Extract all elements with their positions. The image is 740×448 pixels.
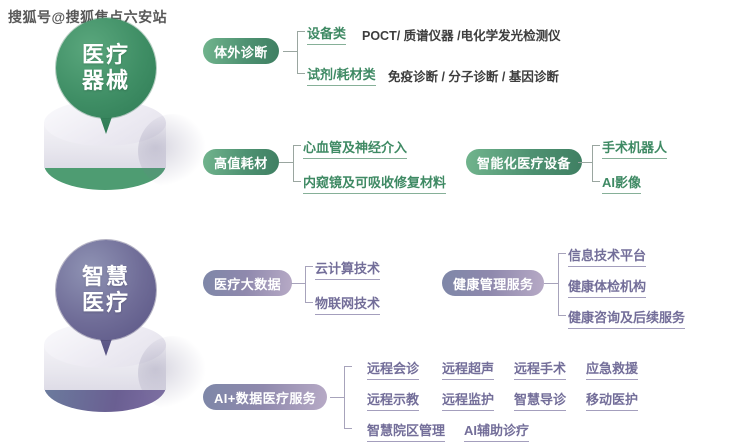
connector-branch xyxy=(297,31,305,32)
detail-ivd-reagent: 免疫诊断 / 分子诊断 / 基因诊断 xyxy=(388,66,559,85)
connector-vline xyxy=(344,366,345,428)
pill-health-management-service[interactable]: 健康管理服务 xyxy=(442,270,544,296)
leaf-smart-triage[interactable]: 智慧导诊 xyxy=(514,389,566,411)
pedestal-shadow xyxy=(138,336,208,410)
connector-vline xyxy=(592,145,593,181)
leaf-emergency-rescue[interactable]: 应急救援 xyxy=(586,358,638,380)
connector-branch xyxy=(305,302,313,303)
pedestal-shadow xyxy=(138,114,208,188)
pill-high-value-consumables[interactable]: 高值耗材 xyxy=(203,149,279,175)
node-label-smart-health: 智慧 医疗 xyxy=(56,240,156,340)
leaf-remote-teaching[interactable]: 远程示教 xyxy=(367,389,419,411)
pill-smart-medical-equipment[interactable]: 智能化医疗设备 xyxy=(466,149,582,175)
node-label-line1: 智慧 xyxy=(82,264,130,290)
connector-branch xyxy=(297,73,305,74)
connector-branch xyxy=(344,428,352,429)
connector-branch xyxy=(305,266,313,267)
connector-branch xyxy=(344,366,352,367)
leaf-cardio-neuro[interactable]: 心血管及神经介入 xyxy=(303,137,407,159)
detail-ivd-equipment: POCT/ 质谱仪器 /电化学发光检测仪 xyxy=(362,25,561,44)
connector-stub xyxy=(291,283,305,284)
leaf-it-platform[interactable]: 信息技术平台 xyxy=(568,245,646,267)
pill-ivd[interactable]: 体外诊断 xyxy=(203,38,279,64)
connector-branch xyxy=(592,181,600,182)
connector-stub xyxy=(279,162,293,163)
leaf-remote-monitoring[interactable]: 远程监护 xyxy=(442,389,494,411)
connector-branch xyxy=(293,181,301,182)
leaf-smart-campus-management[interactable]: 智慧院区管理 xyxy=(367,420,445,442)
connector-branch xyxy=(558,253,566,254)
node-label-line1: 医疗 xyxy=(82,42,130,68)
leaf-endoscope[interactable]: 内窥镜及可吸收修复材料 xyxy=(303,172,446,194)
node-label-line2: 器械 xyxy=(82,68,130,94)
connector-branch xyxy=(293,145,301,146)
leaf-remote-surgery[interactable]: 远程手术 xyxy=(514,358,566,380)
connector-vline xyxy=(558,253,559,315)
leaf-health-consulting[interactable]: 健康咨询及后续服务 xyxy=(568,307,685,329)
connector-stub xyxy=(283,51,297,52)
connector-stub xyxy=(330,397,344,398)
mindmap-canvas: 搜狐号@搜狐焦点六安站 医疗 器械 智慧 医疗 体外诊断 设备类 POCT/ 质… xyxy=(0,0,740,448)
connector-branch xyxy=(558,315,566,316)
pill-ai-data-medical-service[interactable]: AI+数据医疗服务 xyxy=(203,384,327,410)
connector-stub xyxy=(578,162,592,163)
node-medical-device: 医疗 器械 xyxy=(18,18,198,218)
leaf-ai-imaging[interactable]: AI影像 xyxy=(602,172,641,194)
node-smart-health: 智慧 医疗 xyxy=(18,240,198,440)
leaf-mobile-care[interactable]: 移动医护 xyxy=(586,389,638,411)
leaf-ivd-equipment[interactable]: 设备类 xyxy=(307,23,346,45)
leaf-ai-assisted-diagnosis[interactable]: AI辅助诊疗 xyxy=(464,420,529,442)
leaf-remote-consultation[interactable]: 远程会诊 xyxy=(367,358,419,380)
leaf-health-checkup[interactable]: 健康体检机构 xyxy=(568,276,646,298)
connector-vline xyxy=(293,145,294,181)
connector-stub xyxy=(544,283,558,284)
leaf-cloud-computing[interactable]: 云计算技术 xyxy=(315,258,380,280)
node-label-medical-device: 医疗 器械 xyxy=(56,18,156,118)
leaf-ivd-reagent[interactable]: 试剂/耗材类 xyxy=(307,64,376,86)
connector-vline xyxy=(305,266,306,302)
leaf-surgical-robot[interactable]: 手术机器人 xyxy=(602,137,667,159)
node-label-line2: 医疗 xyxy=(82,290,130,316)
connector-branch xyxy=(592,145,600,146)
leaf-iot[interactable]: 物联网技术 xyxy=(315,293,380,315)
connector-vline xyxy=(297,31,298,73)
leaf-remote-ultrasound[interactable]: 远程超声 xyxy=(442,358,494,380)
pill-medical-big-data[interactable]: 医疗大数据 xyxy=(203,270,292,296)
